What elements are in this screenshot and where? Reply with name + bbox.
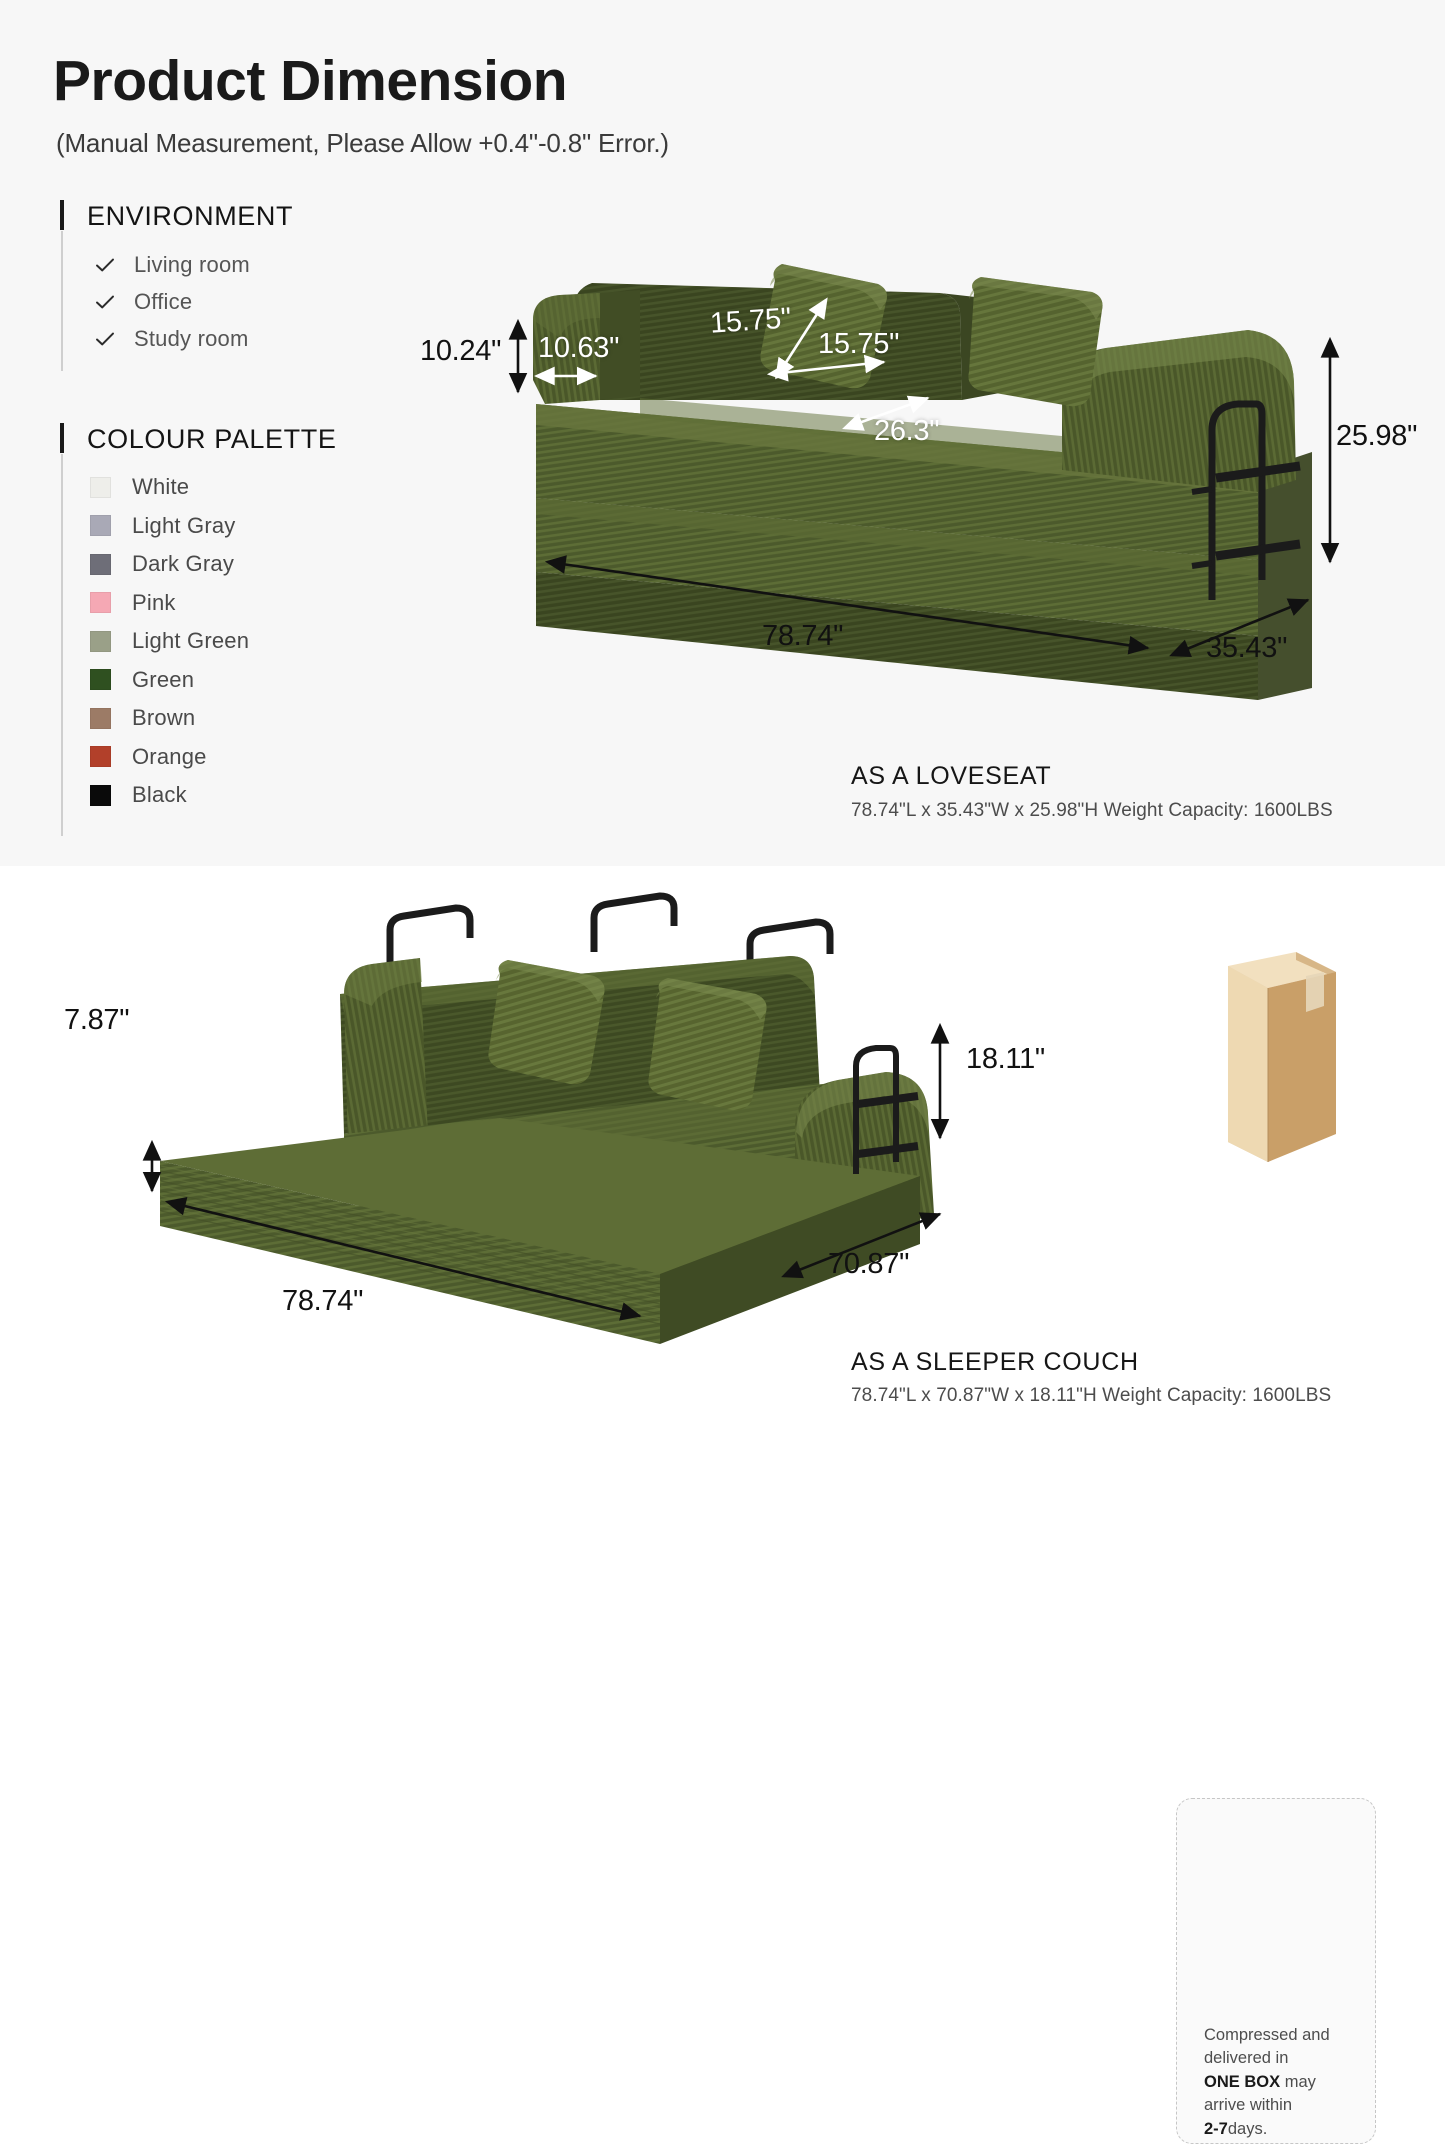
dim-mattress-thickness: 7.87" [64, 1004, 129, 1037]
check-icon [94, 254, 116, 276]
colour-swatch [90, 785, 111, 806]
sleeper-mattress-front [160, 1161, 660, 1344]
colour-swatch [90, 746, 111, 767]
loveseat-caption-title: AS A LOVESEAT [851, 762, 1051, 791]
list-item: Office [94, 283, 250, 320]
palette-accent-bar [60, 423, 64, 453]
colour-swatch [90, 669, 111, 690]
dim-sleeper-depth: 70.87" [828, 1248, 909, 1281]
sleeper-section: Compressed and delivered in ONE BOX may … [0, 866, 1445, 1406]
dim-total-depth: 35.43" [1206, 632, 1287, 665]
list-item: Black [90, 776, 249, 815]
dim-arm-width: 10.63" [538, 332, 619, 365]
colour-label: Dark Gray [132, 551, 234, 577]
sleeper-caption-title: AS A SLEEPER COUCH [851, 1348, 1139, 1377]
palette-heading-label: COLOUR PALETTE [87, 424, 336, 454]
sleeper-caption-sub: 78.74"L x 70.87"W x 18.11"H Weight Capac… [851, 1385, 1331, 1407]
sleeper-pillow-2 [648, 978, 766, 1110]
environment-item-label: Office [134, 289, 192, 315]
list-item: Light Gray [90, 507, 249, 546]
dimline-pillow-width [770, 362, 884, 374]
environment-block: ENVIRONMENT Living room Office Study roo… [56, 203, 293, 230]
shipping-after-one-box: may [1280, 2073, 1316, 2091]
environment-list: Living room Office Study room [94, 246, 250, 357]
shipping-line-2: delivered in [1204, 2049, 1288, 2067]
colour-palette-block: COLOUR PALETTE White Light Gray Dark Gra… [56, 426, 336, 453]
check-icon [94, 328, 116, 350]
environment-item-label: Study room [134, 326, 249, 352]
dim-seat-depth: 26.3" [874, 415, 939, 448]
list-item: Dark Gray [90, 545, 249, 584]
colour-swatch [90, 708, 111, 729]
dim-total-length: 78.74" [762, 620, 843, 653]
handle-icon [390, 896, 830, 978]
sleeper-left-arm [344, 958, 428, 1148]
sleeper-pillow-1 [488, 960, 604, 1084]
dimline-total-length [548, 562, 1148, 648]
page-subtitle: (Manual Measurement, Please Allow +0.4"-… [56, 128, 669, 159]
metal-bracket-icon [1212, 404, 1300, 600]
sleeper-metal-bracket-icon [856, 1048, 918, 1174]
palette-rail [61, 454, 63, 836]
colour-palette-heading: COLOUR PALETTE [56, 426, 336, 453]
colour-label: Pink [132, 590, 176, 616]
list-item: White [90, 468, 249, 507]
shipping-line-1: Compressed and [1204, 2026, 1330, 2044]
list-item: Green [90, 661, 249, 700]
dim-back-height: 18.11" [966, 1043, 1045, 1076]
colour-swatch [90, 477, 111, 498]
list-item: Study room [94, 320, 250, 357]
colour-label: White [132, 474, 189, 500]
list-item: Orange [90, 738, 249, 777]
shipping-bold-one-box: ONE BOX [1204, 2073, 1280, 2091]
sleeper-mattress-top [160, 1118, 920, 1274]
dim-total-height: 25.98" [1336, 420, 1417, 453]
sleeper-illustration [0, 866, 1445, 1406]
list-item: Light Green [90, 622, 249, 661]
box-left-face [1228, 966, 1268, 1162]
shipping-bold-days: 2-7 [1204, 2120, 1228, 2138]
shipping-after-days: days. [1228, 2120, 1267, 2138]
sleeper-right-arm [795, 1072, 934, 1232]
loveseat-section: Product Dimension (Manual Measurement, P… [0, 0, 1445, 866]
colour-label: Light Gray [132, 513, 236, 539]
environment-heading-label: ENVIRONMENT [87, 201, 293, 231]
colour-label: Orange [132, 744, 207, 770]
loveseat-right-arm [1062, 330, 1296, 492]
colour-swatch [90, 554, 111, 575]
colour-label: Light Green [132, 628, 249, 654]
environment-accent-bar [60, 200, 64, 230]
environment-heading: ENVIRONMENT [56, 203, 293, 230]
loveseat-bottom-slab [536, 572, 1258, 700]
environment-item-label: Living room [134, 252, 250, 278]
loveseat-pillow-2 [968, 277, 1102, 406]
colour-swatch [90, 631, 111, 652]
list-item: Living room [94, 246, 250, 283]
sleeper-backrest [340, 956, 820, 1134]
page-title: Product Dimension [53, 52, 567, 112]
shipping-line-3: arrive within [1204, 2096, 1292, 2114]
dim-pillow-depth: 15.75" [709, 302, 792, 341]
environment-rail [61, 231, 63, 371]
loveseat-caption-sub: 78.74"L x 35.43"W x 25.98"H Weight Capac… [851, 800, 1333, 822]
box-tape [1306, 972, 1324, 1012]
shipping-box-illustration [0, 866, 1445, 1406]
box-right-face [1268, 972, 1336, 1162]
colour-label: Brown [132, 705, 195, 731]
colour-label: Black [132, 782, 187, 808]
box-top-face [1228, 952, 1336, 988]
loveseat-middle-slab [536, 498, 1258, 636]
shipping-note: Compressed and delivered in ONE BOX may … [1204, 2024, 1360, 2141]
dim-pillow-width: 15.75" [818, 328, 899, 361]
check-icon [94, 291, 116, 313]
colour-swatch [90, 592, 111, 613]
dimline-sleeper-length [168, 1202, 640, 1316]
colour-label: Green [132, 667, 194, 693]
loveseat-backrest [570, 283, 962, 400]
dim-arm-height: 10.24" [420, 335, 501, 368]
list-item: Brown [90, 699, 249, 738]
colour-palette-list: White Light Gray Dark Gray Pink Light Gr… [90, 468, 249, 815]
list-item: Pink [90, 584, 249, 623]
dim-sleeper-length: 78.74" [282, 1285, 363, 1318]
colour-swatch [90, 515, 111, 536]
